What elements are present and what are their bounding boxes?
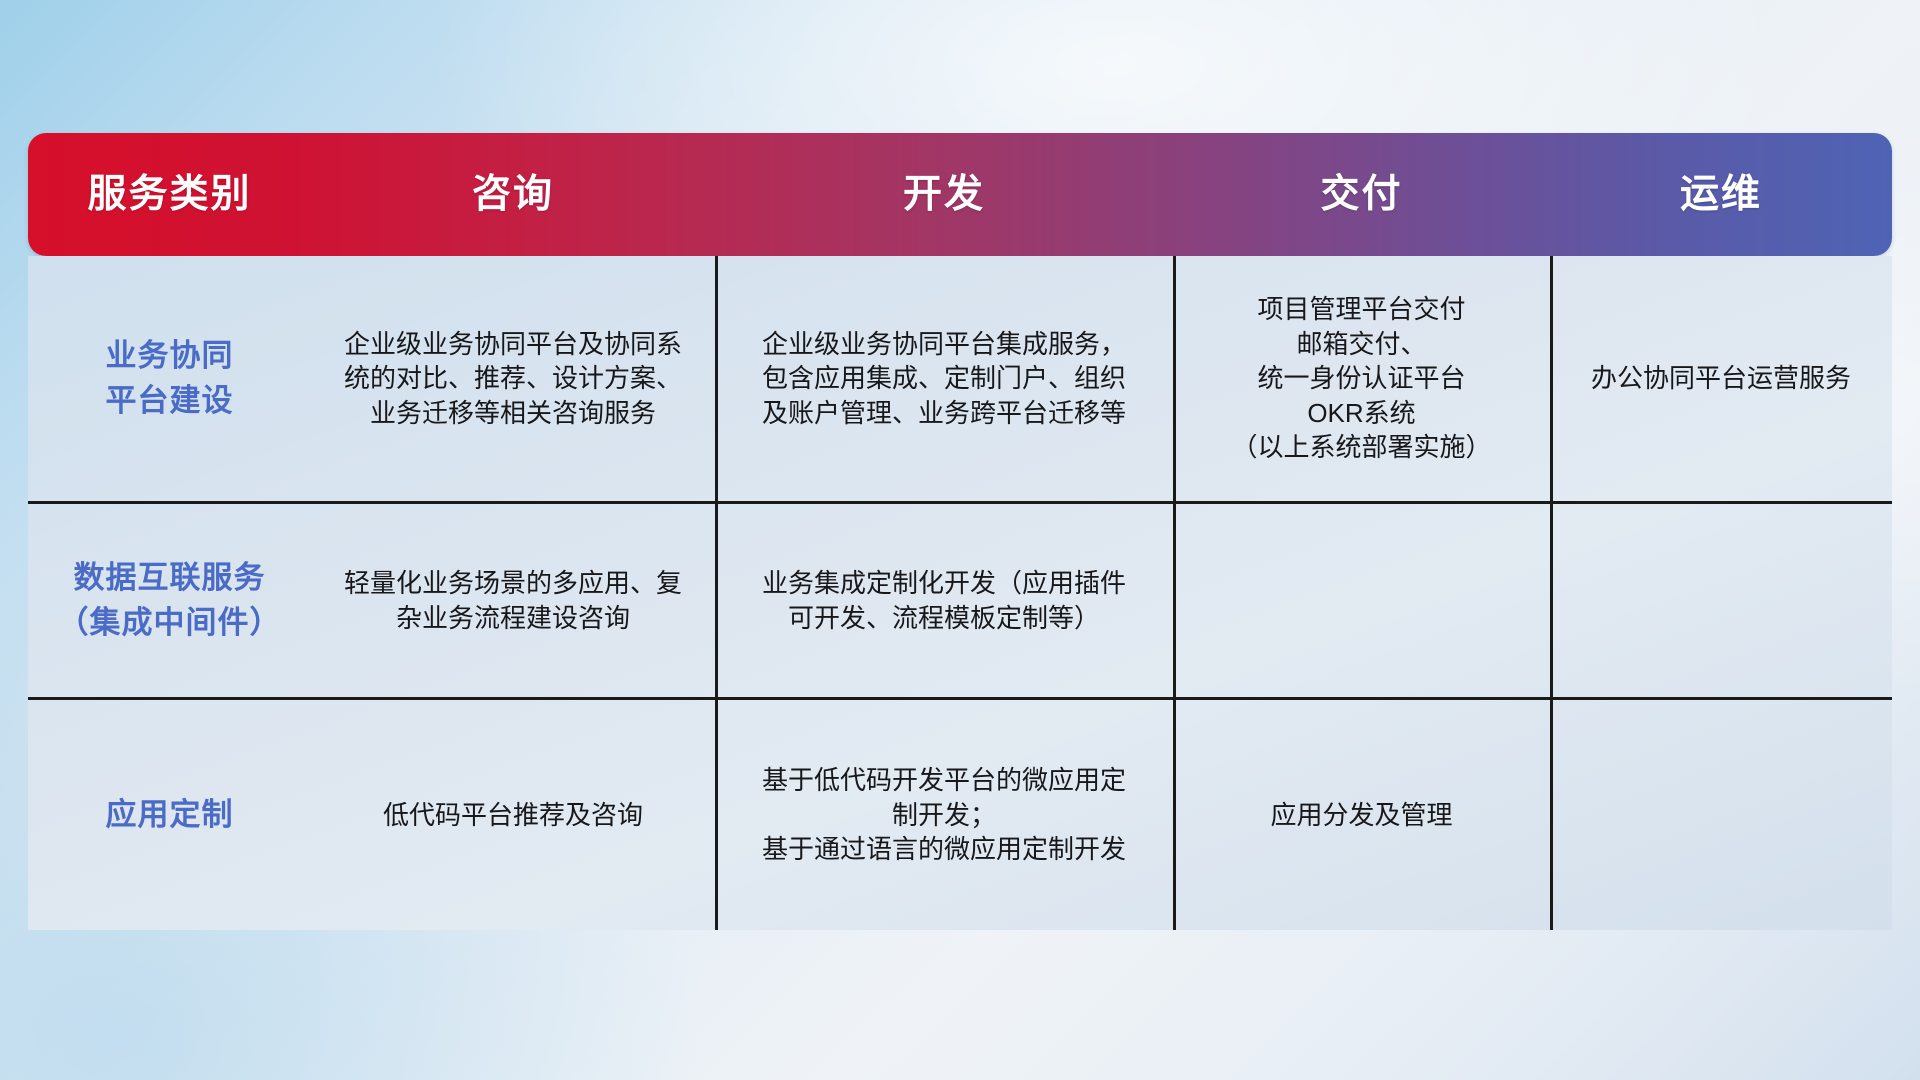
cell-delivery: 项目管理平台交付 邮箱交付、 统一身份认证平台 OKR系统 （以上系统部署实施） [1173, 256, 1550, 501]
cell-consulting: 企业级业务协同平台及协同系 统的对比、推荐、设计方案、 业务迁移等相关咨询服务 [311, 256, 715, 501]
column-header-operations: 运维 [1550, 175, 1892, 214]
table-row: 应用定制 低代码平台推荐及咨询 基于低代码开发平台的微应用定 制开发； 基于通过… [28, 700, 1892, 930]
column-header-development: 开发 [715, 175, 1173, 214]
table-header-row: 服务类别 咨询 开发 交付 运维 [28, 133, 1892, 256]
cell-operations [1550, 700, 1892, 930]
row-label-application-customization: 应用定制 [28, 700, 311, 930]
cell-development: 企业级业务协同平台集成服务， 包含应用集成、定制门户、组织 及账户管理、业务跨平… [715, 256, 1173, 501]
cell-delivery: 应用分发及管理 [1173, 700, 1550, 930]
cell-consulting: 低代码平台推荐及咨询 [311, 700, 715, 930]
table-row: 业务协同 平台建设 企业级业务协同平台及协同系 统的对比、推荐、设计方案、 业务… [28, 256, 1892, 504]
row-label-data-interconnect: 数据互联服务 （集成中间件） [28, 504, 311, 697]
column-header-delivery: 交付 [1173, 175, 1550, 214]
column-header-consulting: 咨询 [311, 175, 715, 214]
cell-operations [1550, 504, 1892, 697]
row-label-business-collaboration: 业务协同 平台建设 [28, 256, 311, 501]
service-category-table: 服务类别 咨询 开发 交付 运维 业务协同 平台建设 企业级业务协同平台及协同系… [28, 133, 1892, 930]
cell-development: 业务集成定制化开发（应用插件 可开发、流程模板定制等） [715, 504, 1173, 697]
cell-consulting: 轻量化业务场景的多应用、复 杂业务流程建设咨询 [311, 504, 715, 697]
cell-development: 基于低代码开发平台的微应用定 制开发； 基于通过语言的微应用定制开发 [715, 700, 1173, 930]
table-body: 业务协同 平台建设 企业级业务协同平台及协同系 统的对比、推荐、设计方案、 业务… [28, 256, 1892, 930]
cell-operations: 办公协同平台运营服务 [1550, 256, 1892, 501]
table-row: 数据互联服务 （集成中间件） 轻量化业务场景的多应用、复 杂业务流程建设咨询 业… [28, 504, 1892, 700]
cell-delivery [1173, 504, 1550, 697]
column-header-category: 服务类别 [28, 175, 311, 214]
